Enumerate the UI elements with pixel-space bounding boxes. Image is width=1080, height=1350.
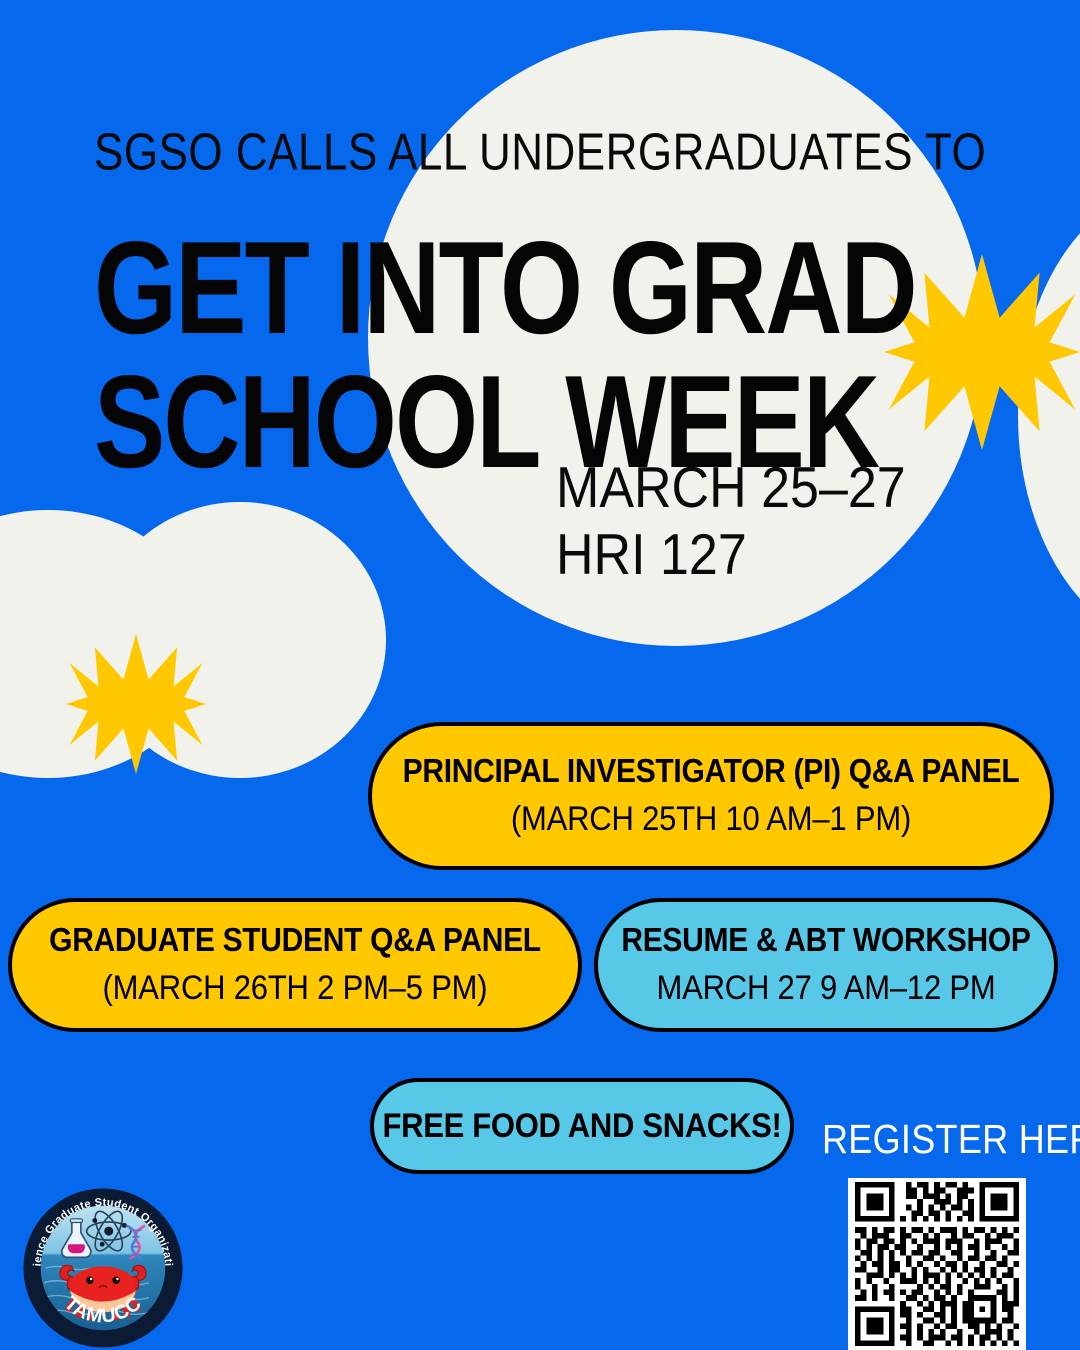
- event-time: (MARCH 26TH 2 PM–5 PM): [103, 967, 488, 1008]
- when-where-block: MARCH 25–27 HRI 127: [556, 452, 906, 585]
- event-time: MARCH 27 9 AM–12 PM: [656, 967, 995, 1008]
- event-title: FREE FOOD AND SNACKS!: [383, 1107, 782, 1146]
- event-title: RESUME & ABT WORKSHOP: [621, 922, 1030, 960]
- headline-line-one: GET INTO GRAD: [94, 222, 985, 354]
- event-pill-pi-panel[interactable]: PRINCIPAL INVESTIGATOR (PI) Q&A PANEL (M…: [368, 722, 1054, 870]
- register-here-label: REGISTER HERE:: [822, 1116, 1080, 1163]
- kicker-text: SGSO CALLS ALL UNDERGRADUATES TO: [94, 126, 994, 181]
- event-location: HRI 127: [556, 519, 906, 592]
- sgso-logo-svg: Science Graduate Student Organization TA…: [18, 1186, 188, 1350]
- event-pill-free-food[interactable]: FREE FOOD AND SNACKS!: [370, 1078, 794, 1174]
- poster-canvas: SGSO CALLS ALL UNDERGRADUATES TO GET INT…: [0, 0, 1080, 1350]
- event-title: GRADUATE STUDENT Q&A PANEL: [49, 922, 541, 960]
- qr-code-svg: [852, 1182, 1022, 1346]
- event-dates: MARCH 25–27: [556, 452, 906, 525]
- headline-block: SGSO CALLS ALL UNDERGRADUATES TO GET INT…: [94, 126, 994, 464]
- event-pill-grad-panel[interactable]: GRADUATE STUDENT Q&A PANEL (MARCH 26TH 2…: [8, 898, 582, 1032]
- qr-code[interactable]: [848, 1178, 1026, 1350]
- event-pill-resume-workshop[interactable]: RESUME & ABT WORKSHOP MARCH 27 9 AM–12 P…: [594, 898, 1058, 1032]
- sgso-logo[interactable]: Science Graduate Student Organization TA…: [18, 1186, 188, 1350]
- event-time: (MARCH 25TH 10 AM–1 PM): [511, 798, 911, 839]
- event-title: PRINCIPAL INVESTIGATOR (PI) Q&A PANEL: [403, 753, 1020, 791]
